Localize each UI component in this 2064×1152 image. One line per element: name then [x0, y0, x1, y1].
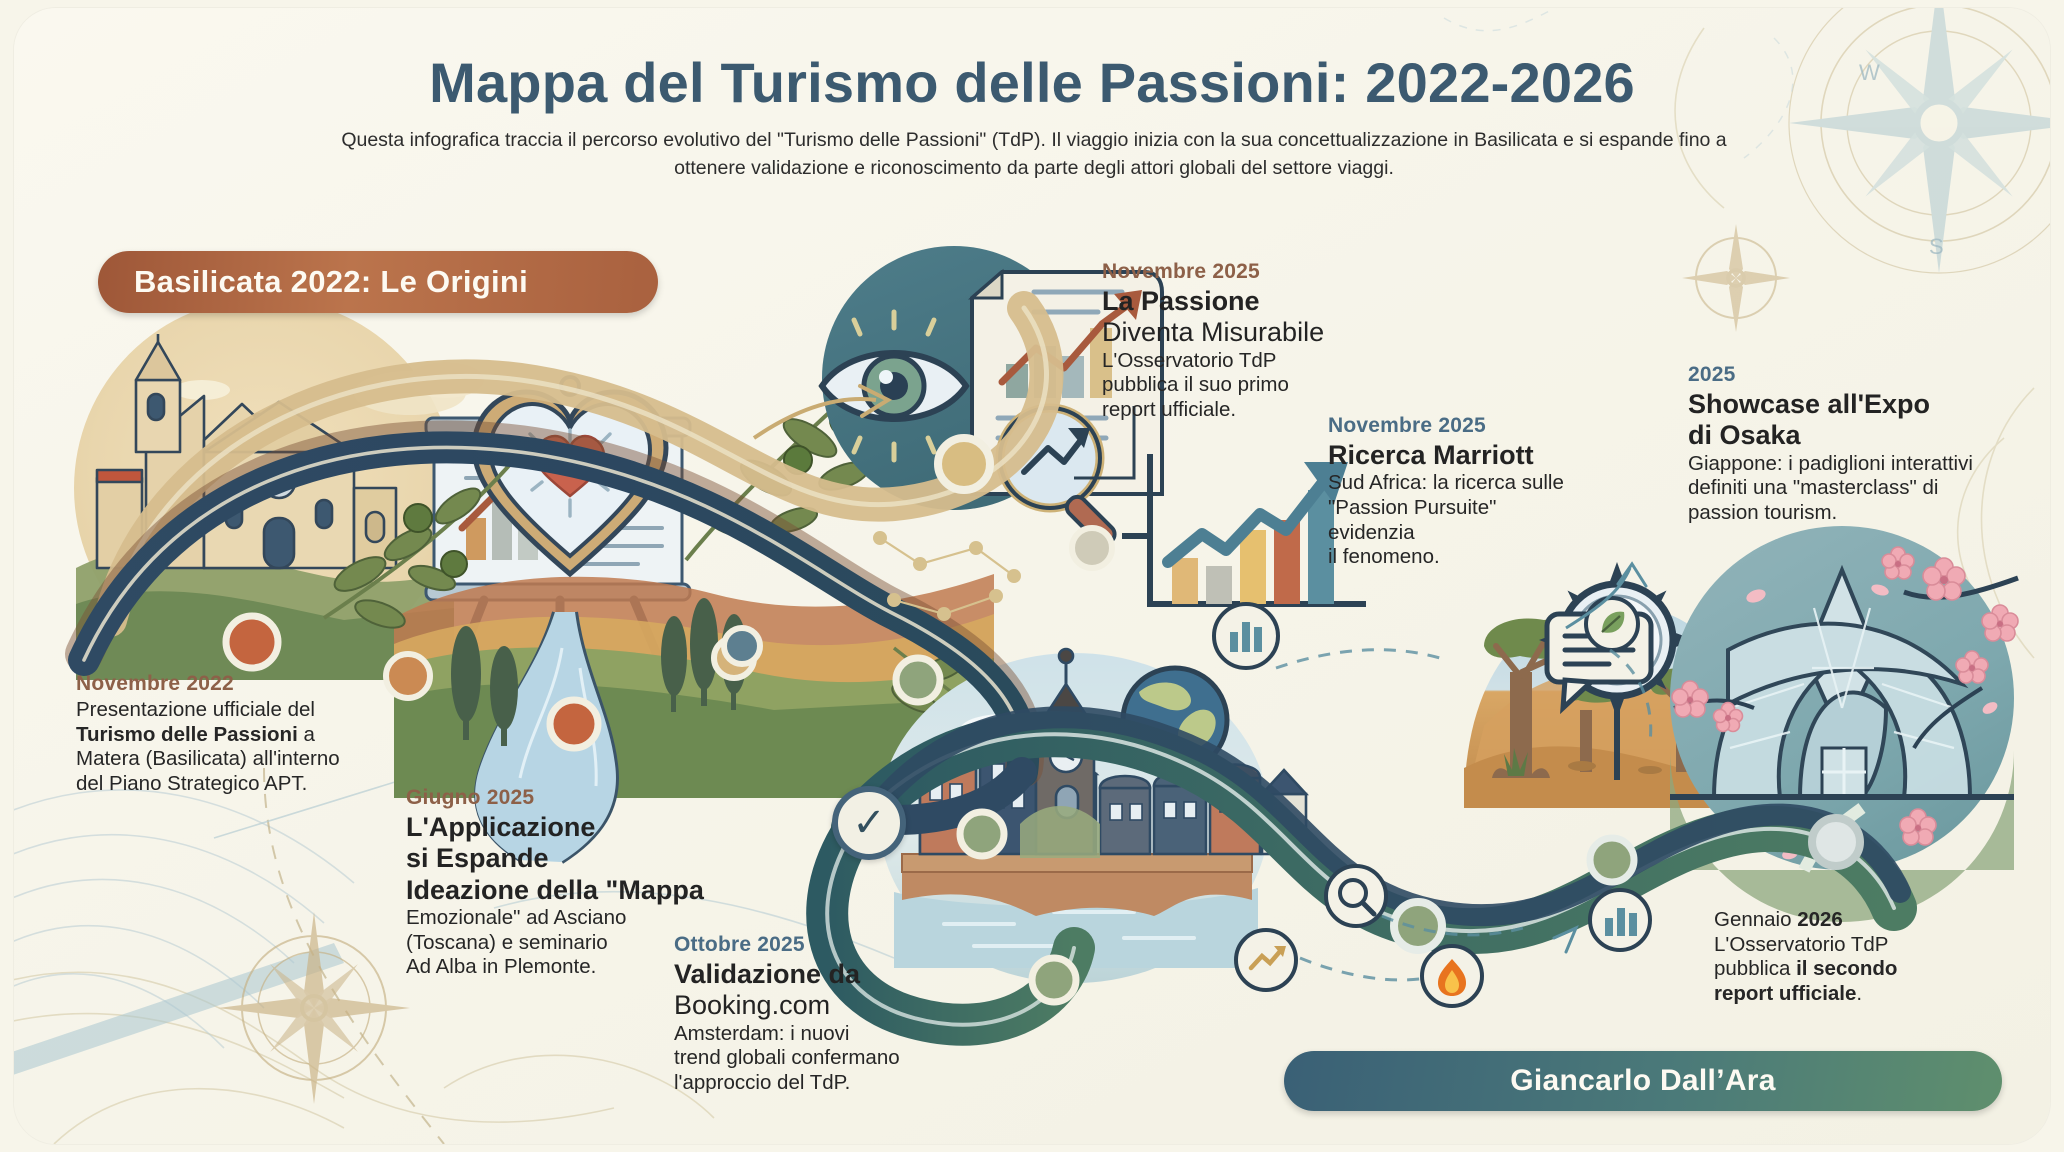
milestone-subheading: Booking.com: [674, 990, 974, 1021]
milestone-body-line: Ad Alba in Plemonte.: [406, 955, 706, 980]
milestone-body-line: Amsterdam: i nuovi: [674, 1022, 974, 1047]
subtitle-line-1: Questa infografica traccia il percorso e…: [341, 129, 1448, 151]
milestone-heading: L'Applicazione: [406, 812, 706, 843]
callout-gennaio-2026: Gennaio 2026L'Osservatorio TdPpubblica i…: [1714, 908, 2024, 1006]
compass-label-s: S: [1929, 234, 1944, 259]
milestone-body-line: L'Osservatorio TdP: [1714, 933, 2024, 958]
node-2022: [226, 616, 278, 668]
milestone-heading: La Passione: [1102, 286, 1402, 317]
badge-basilicata-origins[interactable]: Basilicata 2022: Le Origini: [98, 251, 658, 313]
milestone-body-line: Giappone: i padiglioni interattivi: [1688, 452, 2018, 477]
milestone-body-line: Turismo delle Passioni a: [76, 723, 396, 748]
callout-nov-2025-passione: Novembre 2025La PassioneDiventa Misurabi…: [1102, 260, 1402, 422]
milestone-body-line: report ufficiale.: [1714, 982, 2024, 1007]
milestone-body-line: pubblica il suo primo: [1102, 373, 1402, 398]
callout-nov-2025-marriott: Novembre 2025Ricerca MarriottSud Africa:…: [1328, 414, 1628, 570]
milestone-body-line: Gennaio 2026: [1714, 908, 2024, 933]
callout-giugno-2025: Giugno 2025L'Applicazionesi EspandeIdeaz…: [406, 786, 706, 980]
milestone-body-line: passion tourism.: [1688, 501, 2018, 526]
milestone-body-line: pubblica il secondo: [1714, 957, 2024, 982]
milestone-body-line: l'approccio del TdP.: [674, 1071, 974, 1096]
milestone-date: 2025: [1688, 363, 2018, 387]
milestone-heading: Ricerca Marriott: [1328, 440, 1628, 471]
milestone-subheading: Diventa Misurabile: [1102, 317, 1402, 348]
milestone-date: Giugno 2025: [406, 786, 706, 810]
milestone-date: Ottobre 2025: [674, 933, 974, 957]
badge-author[interactable]: Giancarlo Dall’Ara: [1284, 1051, 2002, 1111]
check-icon: ✓: [832, 786, 906, 860]
milestone-body-line: L'Osservatorio TdP: [1102, 349, 1402, 374]
milestone-date: Novembre 2025: [1328, 414, 1628, 438]
milestone-body-line: Sud Africa: la ricerca sulle: [1328, 471, 1628, 496]
milestone-heading: si Espande: [406, 843, 706, 874]
milestone-body-line: Matera (Basilicata) all'interno: [76, 747, 396, 772]
page-title: Mappa del Turismo delle Passioni: 2022-2…: [14, 50, 2050, 115]
paper-card: W S: [14, 8, 2050, 1144]
milestone-heading: Showcase all'Expo: [1688, 389, 2018, 420]
milestone-body-line: "Passion Pursuite": [1328, 496, 1628, 521]
milestone-body-line: Presentazione ufficiale del: [76, 698, 396, 723]
milestone-body-line: definiti una "masterclass" di: [1688, 476, 2018, 501]
milestone-date: Novembre 2022: [76, 672, 396, 696]
callout-osaka-2025: 2025Showcase all'Expodi OsakaGiappone: i…: [1688, 363, 2018, 525]
milestone-body-line: trend globali confermano: [674, 1046, 974, 1071]
milestone-date: Novembre 2025: [1102, 260, 1402, 284]
milestone-body-line: Emozionale" ad Asciano: [406, 906, 706, 931]
milestone-heading: Ideazione della "Mappa: [406, 875, 706, 906]
milestone-body-line: il fenomeno.: [1328, 545, 1628, 570]
milestone-body-line: (Toscana) e seminario: [406, 931, 706, 956]
milestone-heading: Validazione da: [674, 959, 974, 990]
callout-nov-2022: Novembre 2022Presentazione ufficiale del…: [76, 672, 396, 796]
milestone-heading: di Osaka: [1688, 420, 2018, 451]
milestone-body-line: del Piano Strategico APT.: [76, 772, 396, 797]
page-subtitle: Questa infografica traccia il percorso e…: [324, 126, 1744, 183]
callout-ottobre-2025: Ottobre 2025Validazione daBooking.comAms…: [674, 933, 974, 1095]
milestone-body-line: evidenzia: [1328, 521, 1628, 546]
infographic-root: W S: [0, 0, 2064, 1152]
